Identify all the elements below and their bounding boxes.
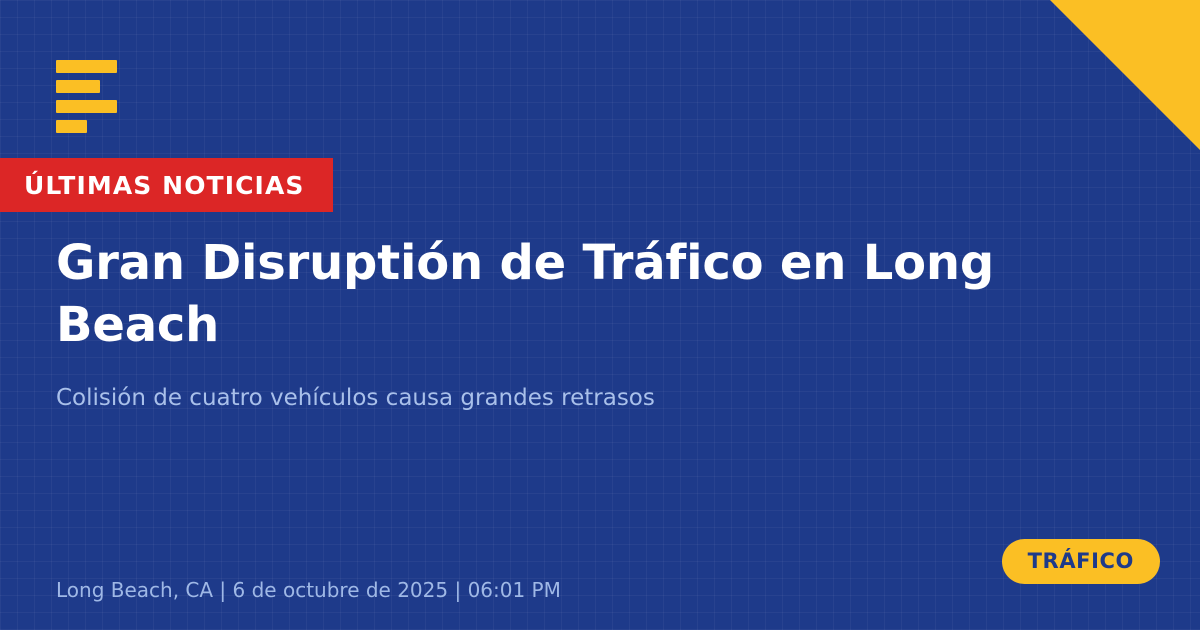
page-title: Gran Disruptión de Tráfico en Long Beach xyxy=(56,232,1116,356)
news-card: ÚLTIMAS NOTICIAS Gran Disruptión de Tráf… xyxy=(0,0,1200,630)
breaking-news-label: ÚLTIMAS NOTICIAS xyxy=(24,173,305,198)
logo-bar-1-icon xyxy=(56,60,117,73)
corner-wedge-triangle-icon xyxy=(1050,0,1200,150)
breaking-news-banner: ÚLTIMAS NOTICIAS xyxy=(0,158,333,212)
article-subtitle: Colisión de cuatro vehículos causa grand… xyxy=(56,382,1056,414)
logo-bar-3-icon xyxy=(56,100,117,113)
logo-bar-2-icon xyxy=(56,80,100,93)
category-badge: TRÁFICO xyxy=(1002,539,1160,584)
article-meta-line: Long Beach, CA | 6 de octubre de 2025 | … xyxy=(56,576,561,604)
four-bar-logo xyxy=(56,60,117,133)
logo-bar-4-icon xyxy=(56,120,87,133)
